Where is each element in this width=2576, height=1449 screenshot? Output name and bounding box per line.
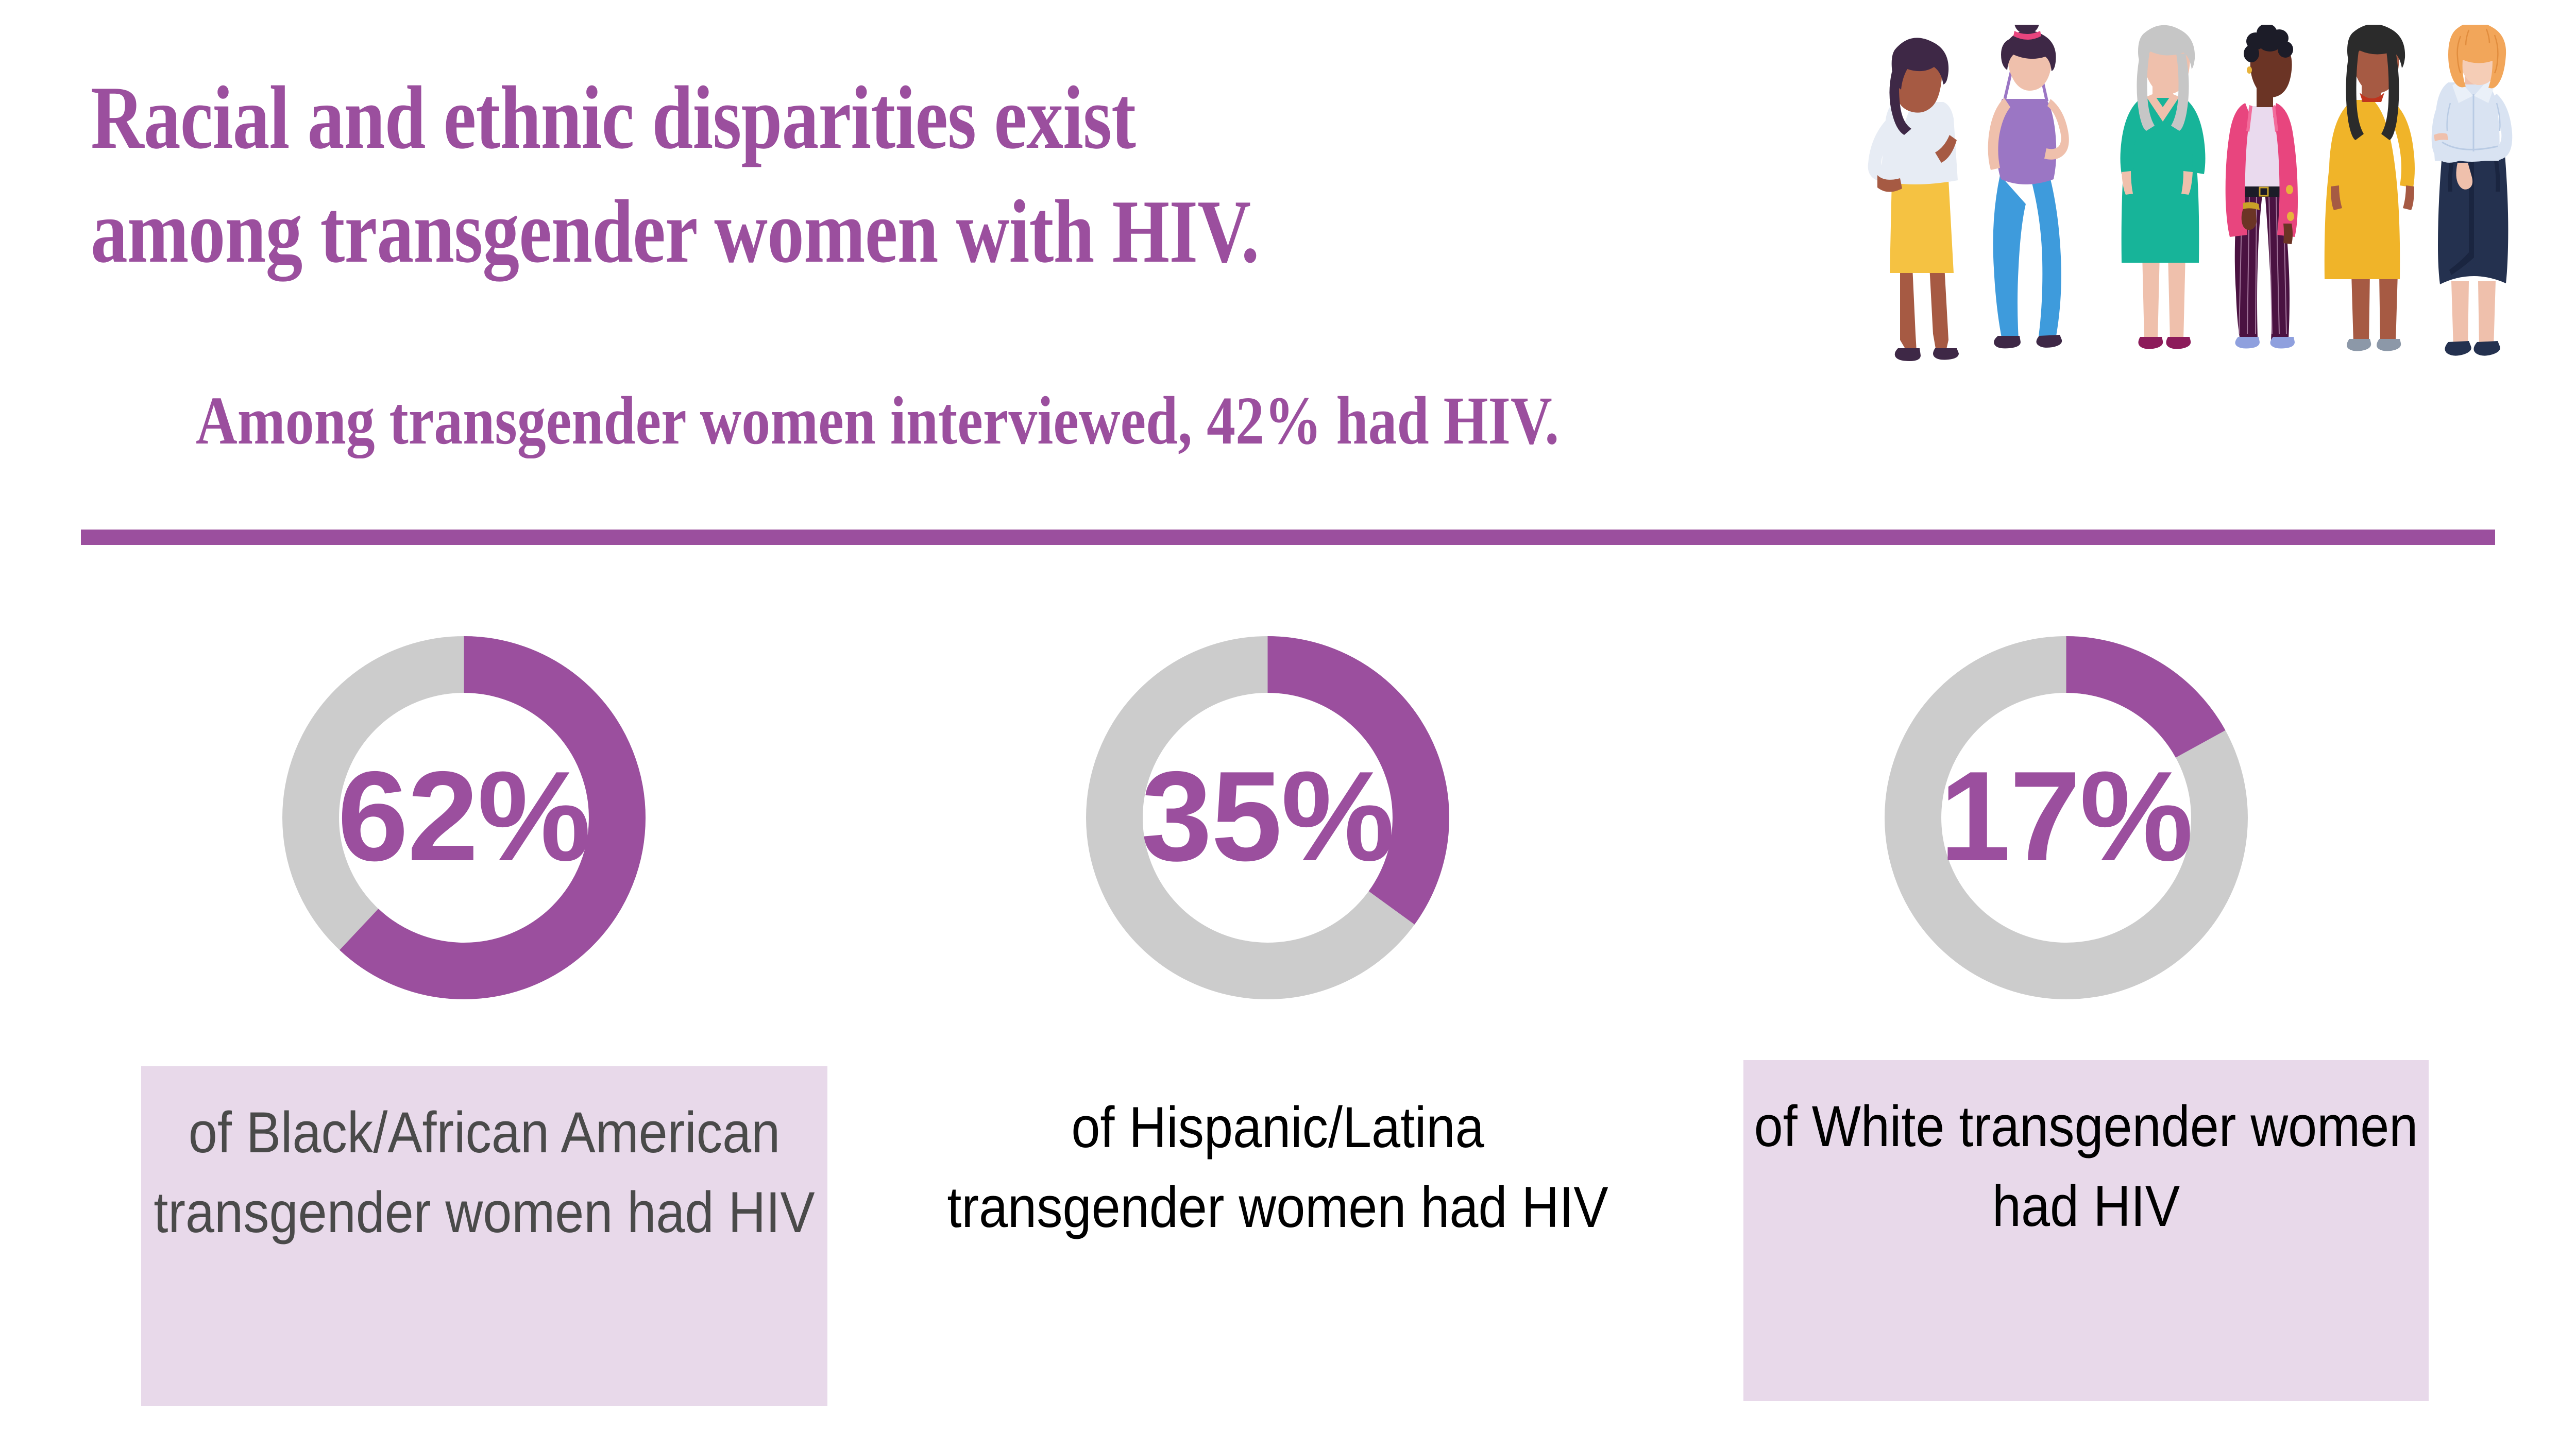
caption-white: of White transgender women had HIV — [1743, 1060, 2429, 1401]
stat-column-hispanic-latina: 35% of Hispanic/Latina transgender women… — [866, 608, 1669, 1449]
page-subtitle: Among transgender women interviewed, 42%… — [196, 381, 2057, 460]
donut-value-black-african-american: 62% — [254, 608, 674, 1028]
woman-figure-5 — [2325, 25, 2415, 351]
donut-chart-white: 17% — [1856, 608, 2276, 1028]
page-title: Racial and ethnic disparities exist amon… — [91, 61, 1519, 288]
header-divider — [81, 530, 2495, 545]
stats-row: 62% of Black/African American transgende… — [0, 608, 2576, 1449]
donut-value-hispanic-latina: 35% — [1058, 608, 1478, 1028]
stat-column-black-african-american: 62% of Black/African American transgende… — [62, 608, 866, 1449]
stat-column-white: 17% of White transgender women had HIV — [1664, 608, 2468, 1449]
caption-black-african-american: of Black/African American transgender wo… — [141, 1066, 827, 1406]
woman-figure-3 — [2121, 25, 2206, 349]
woman-figure-2 — [1988, 25, 2069, 348]
six-diverse-women-illustration — [1834, 25, 2519, 380]
header-block: Racial and ethnic disparities exist amon… — [0, 0, 2576, 546]
woman-figure-6 — [2432, 25, 2513, 356]
donut-chart-hispanic-latina: 35% — [1058, 608, 1478, 1028]
donut-value-white: 17% — [1856, 608, 2276, 1028]
caption-hispanic-latina: of Hispanic/Latina transgender women had… — [935, 1061, 1621, 1280]
woman-figure-1 — [1868, 38, 1959, 361]
woman-figure-4 — [2226, 25, 2298, 349]
donut-chart-black-african-american: 62% — [254, 608, 674, 1028]
